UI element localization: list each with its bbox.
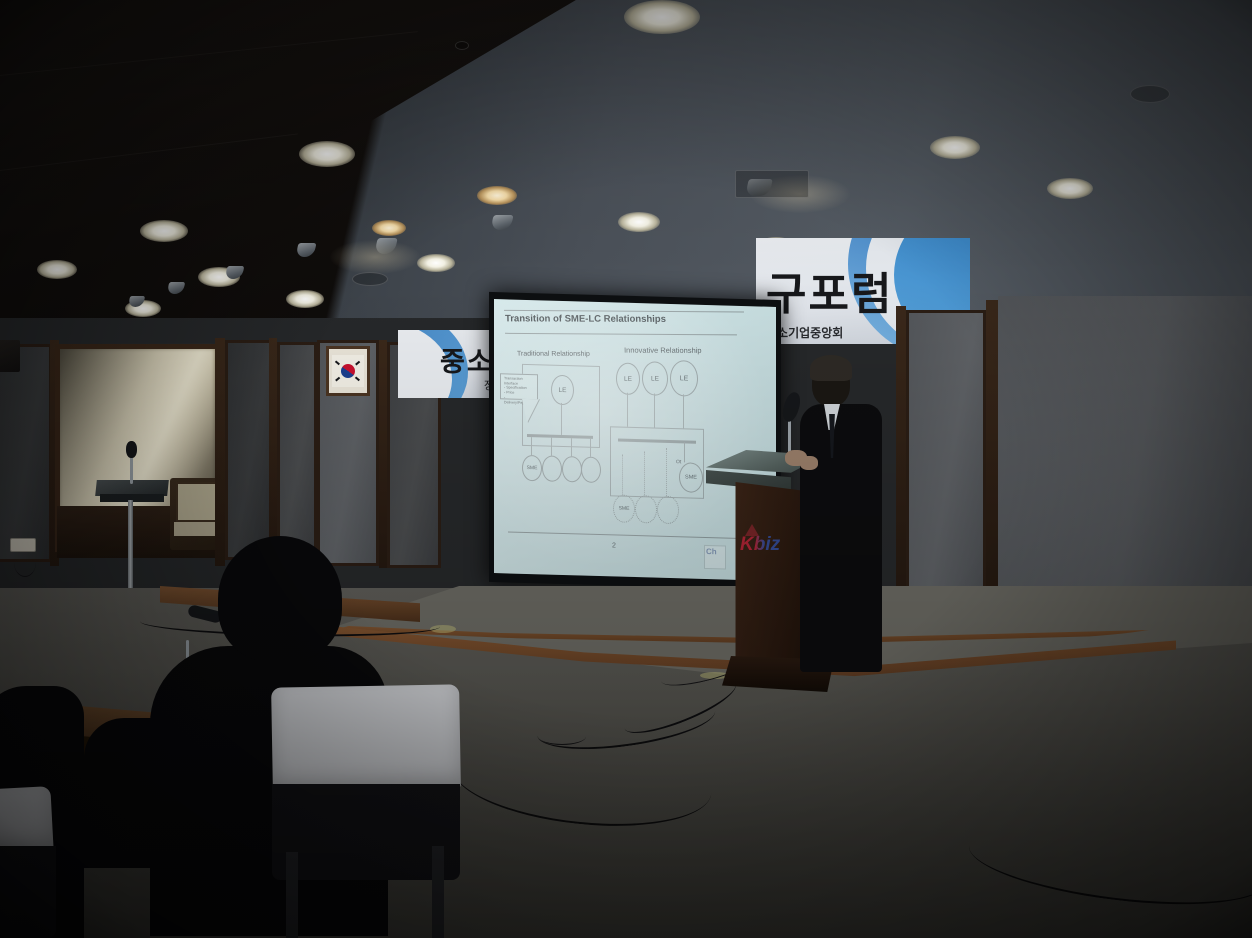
ceiling-downlight (618, 212, 660, 232)
innovative-side-node-prefix: Ot (676, 459, 681, 465)
presentation-room-photo: 중소기 장소 : 구포럼 중소기업중앙회 Transition of SME-L… (0, 0, 1252, 938)
innovative-sme-stem (666, 448, 668, 496)
sme-stem (590, 439, 591, 457)
audience-member-arm (84, 718, 204, 868)
traditional-section-label: Traditional Relationship (517, 351, 590, 358)
audience-chair-back (271, 684, 461, 791)
innovative-le-stem (627, 393, 628, 427)
slide-footer-rule (508, 531, 754, 539)
lectern-mic-head (126, 441, 137, 458)
presenter-hand (800, 456, 818, 470)
audience-member-head (218, 536, 342, 662)
audience-chair-back-2 (0, 786, 54, 854)
innovative-section-label: Innovative Relationship (624, 346, 702, 355)
audience-chair-leg (432, 846, 444, 938)
innovative-le-stem (654, 394, 655, 428)
innovative-le-node: LE (616, 362, 640, 395)
node-label: SME (619, 506, 630, 512)
node-label: SME (685, 474, 697, 480)
innovative-le-node: LE (642, 361, 668, 396)
innovative-sme-node (635, 495, 657, 524)
slide-footer-logo: Ch (706, 547, 717, 556)
projection-screen: Transition of SME-LC Relationships Tradi… (494, 299, 776, 581)
audience-chair-lower-2 (0, 846, 56, 938)
ceiling-vent (735, 170, 809, 198)
ceiling-downlight (299, 141, 355, 167)
podium-logo: Kbiz (740, 534, 780, 556)
wall-panel-right (906, 310, 986, 604)
traditional-sme-node (581, 456, 601, 483)
slide-content: Transition of SME-LC Relationships Tradi… (494, 299, 776, 581)
korean-flag-frame (326, 346, 370, 396)
trigram (355, 376, 360, 381)
ceiling-downlight (930, 136, 980, 159)
innovative-sme-stem (622, 455, 624, 495)
callout-pointer (522, 399, 539, 423)
innovative-le-stem (683, 394, 684, 428)
ceiling-downlight-warm (372, 220, 406, 236)
wall-trim (215, 338, 225, 566)
node-label: LE (624, 375, 632, 382)
slide-title-rule (504, 310, 744, 313)
traditional-sme-node: SME (522, 455, 542, 482)
outlet-cable (14, 548, 36, 577)
taeguk-symbol (341, 364, 355, 378)
slide-page-number: 2 (612, 542, 616, 549)
ceiling-downlight-warm (477, 186, 517, 205)
presenter-hair (810, 355, 852, 381)
wall-trim (896, 306, 906, 606)
innovative-sme-node: SME (613, 494, 635, 523)
ceiling-vent (1130, 85, 1170, 103)
audience-chair-leg (286, 852, 298, 938)
traditional-le-node: LE (551, 375, 574, 406)
ceiling-downlight (624, 0, 700, 34)
innovative-sme-node (657, 496, 679, 525)
ceiling-vent (352, 272, 388, 286)
ceiling-downlight (140, 220, 188, 242)
slide-title-underline (505, 333, 737, 336)
traditional-le-stem (561, 403, 562, 435)
trigram (335, 361, 340, 366)
presenter-legs (820, 560, 878, 672)
traditional-sme-node (542, 455, 562, 482)
spotlight-glow (330, 240, 420, 274)
node-label: LE (559, 386, 567, 393)
traditional-sme-node (562, 456, 582, 483)
korean-flag (332, 355, 364, 387)
trigram (335, 376, 340, 381)
ceiling-downlight (286, 290, 324, 308)
lectern-pole (128, 500, 133, 596)
sme-stem (531, 437, 532, 455)
trigram (355, 361, 360, 366)
wall-panel-right (998, 296, 1252, 612)
floor-cable (538, 728, 586, 745)
wall-panel (277, 342, 317, 564)
ceiling-smoke-detector (455, 41, 469, 50)
sme-stem (551, 438, 552, 456)
wall-panel (225, 340, 273, 560)
banner-title-right: 구포럼 (766, 258, 893, 322)
node-label: SME (527, 465, 538, 471)
wall-panel-left (0, 344, 52, 562)
node-label: LE (680, 375, 689, 382)
ceiling-downlight (417, 254, 455, 272)
wall-trim (379, 340, 387, 568)
node-label: LE (651, 375, 659, 382)
wall-trim (269, 338, 277, 564)
innovative-side-sme-node: SME (679, 462, 703, 493)
ceiling-downlight (1047, 178, 1093, 199)
sme-stem (571, 438, 572, 456)
wall-trim (986, 300, 998, 606)
wall-speaker (0, 340, 20, 372)
innovative-side-stem (684, 442, 685, 462)
side-chair-seatback (176, 482, 220, 522)
transaction-interface-callout: Transaction Interface - Specification - … (500, 373, 538, 400)
innovative-le-node: LE (670, 360, 698, 397)
ceiling-downlight (37, 260, 77, 279)
innovative-sme-stem (644, 451, 646, 495)
slide-title: Transition of SME-LC Relationships (505, 313, 666, 325)
